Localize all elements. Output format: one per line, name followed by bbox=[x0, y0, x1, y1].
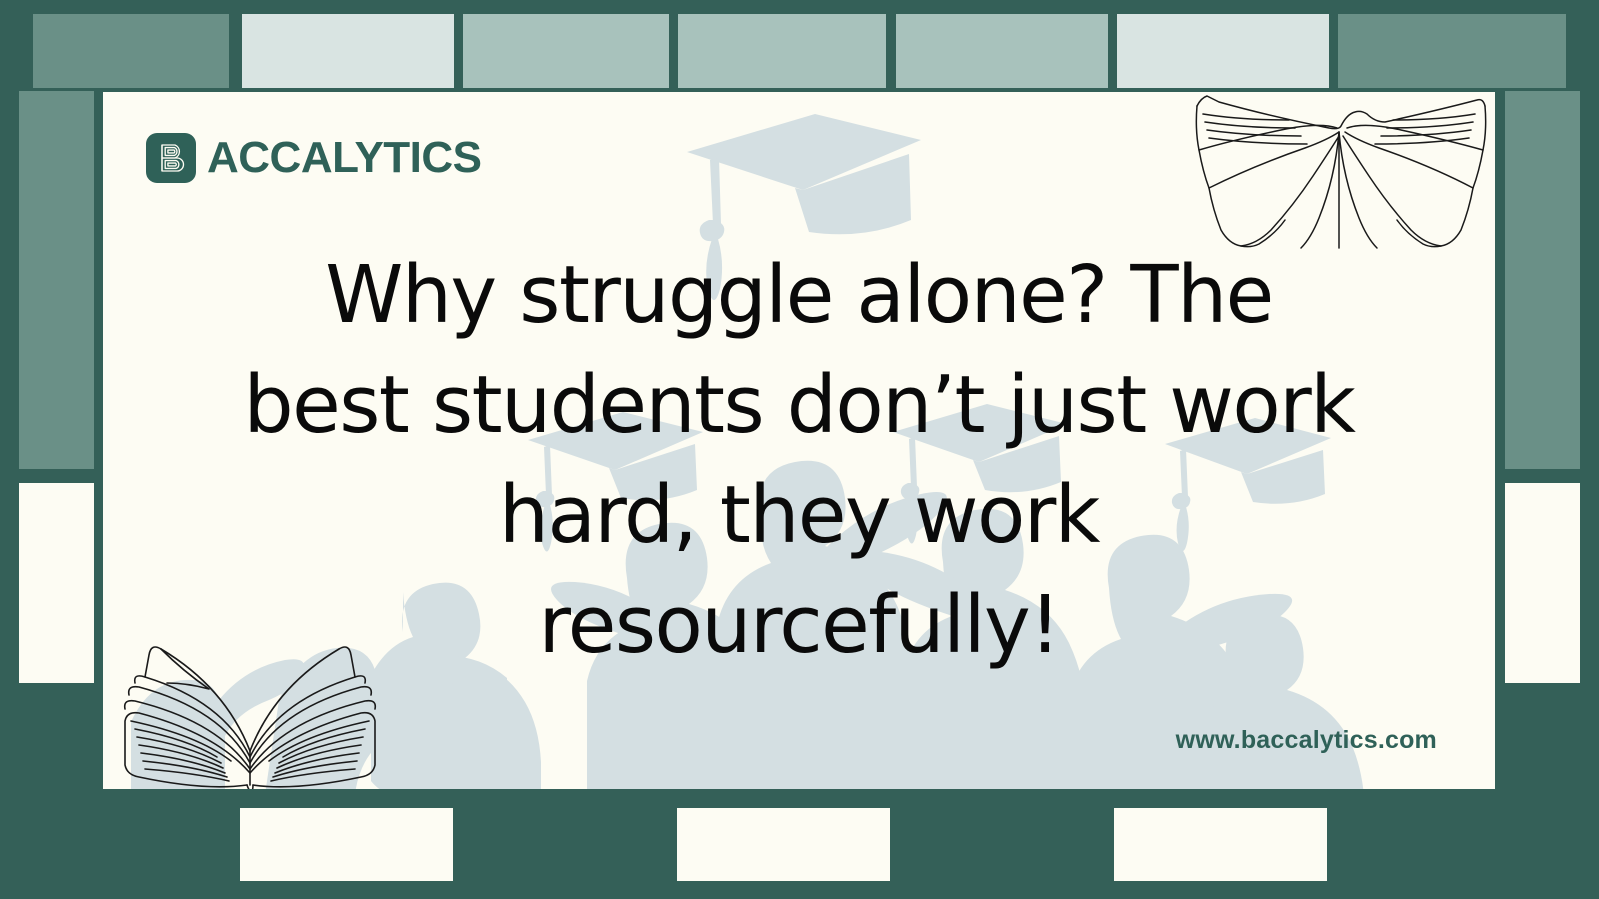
brand-logo[interactable]: ACCALYTICS bbox=[146, 133, 482, 183]
website-url[interactable]: www.baccalytics.com bbox=[1176, 726, 1437, 755]
bottom-tile-1 bbox=[240, 808, 453, 881]
headline-line: Why struggle alone? The bbox=[129, 240, 1469, 350]
left-sage-block bbox=[19, 91, 94, 469]
left-cream-block bbox=[19, 483, 94, 683]
top-tile-5 bbox=[896, 14, 1108, 88]
headline-line: hard, they work bbox=[129, 460, 1469, 570]
right-cream-block bbox=[1505, 483, 1580, 683]
poster-canvas: ACCALYTICS Why struggle alone? The best … bbox=[0, 0, 1599, 899]
headline: Why struggle alone? The best students do… bbox=[103, 240, 1495, 680]
top-tile-3 bbox=[463, 14, 669, 88]
bottom-tile-3 bbox=[1114, 808, 1327, 881]
top-tile-6 bbox=[1117, 14, 1329, 88]
top-tile-1 bbox=[33, 14, 229, 88]
content-card: ACCALYTICS Why struggle alone? The best … bbox=[103, 92, 1495, 789]
brand-wordmark: ACCALYTICS bbox=[207, 136, 482, 180]
graduation-ribbon-line-art bbox=[1189, 92, 1489, 253]
right-sage-block bbox=[1505, 91, 1580, 469]
headline-line: best students don’t just work bbox=[129, 350, 1469, 460]
top-tile-7 bbox=[1338, 14, 1566, 88]
top-tile-4 bbox=[678, 14, 886, 88]
top-tile-2 bbox=[242, 14, 454, 88]
baccalytics-b-mark-icon bbox=[146, 133, 196, 183]
headline-line: resourcefully! bbox=[129, 570, 1469, 680]
bottom-tile-2 bbox=[677, 808, 890, 881]
